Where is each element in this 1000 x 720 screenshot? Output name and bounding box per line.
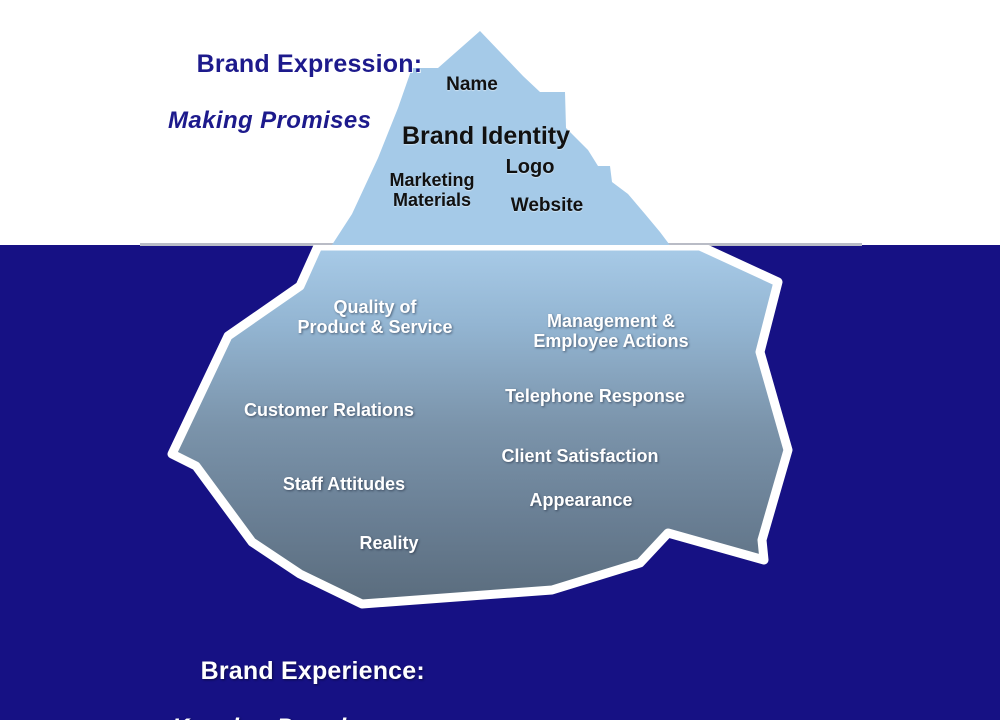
label-brand-identity: Brand Identity	[402, 122, 570, 150]
above-water-label-2: Marketing Materials	[389, 170, 474, 210]
heading-below-subtitle: Keeping Promises	[172, 715, 425, 720]
iceberg-submerged	[172, 246, 788, 604]
below-water-label-7: Reality	[359, 533, 418, 553]
iceberg-diagram: Brand Expression: Making Promises Brand …	[0, 0, 1000, 720]
iceberg-shape	[0, 0, 1000, 720]
heading-brand-experience: Brand Experience: Keeping Promises	[172, 629, 425, 720]
below-water-label-6: Appearance	[529, 490, 632, 510]
below-water-label-0: Quality of Product & Service	[297, 297, 452, 337]
above-water-label-0: Name	[446, 74, 498, 95]
below-water-label-3: Customer Relations	[244, 400, 414, 420]
heading-above-title: Brand Expression:	[197, 50, 423, 78]
above-water-label-1: Logo	[506, 156, 555, 178]
heading-above-subtitle: Making Promises	[168, 108, 422, 135]
heading-below-title: Brand Experience:	[201, 657, 425, 685]
below-water-label-4: Client Satisfaction	[501, 446, 658, 466]
below-water-label-5: Staff Attitudes	[283, 474, 405, 494]
below-water-label-2: Telephone Response	[505, 386, 685, 406]
heading-brand-expression: Brand Expression: Making Promises	[168, 22, 422, 191]
above-water-label-3: Website	[511, 195, 584, 216]
below-water-label-1: Management & Employee Actions	[533, 311, 688, 351]
